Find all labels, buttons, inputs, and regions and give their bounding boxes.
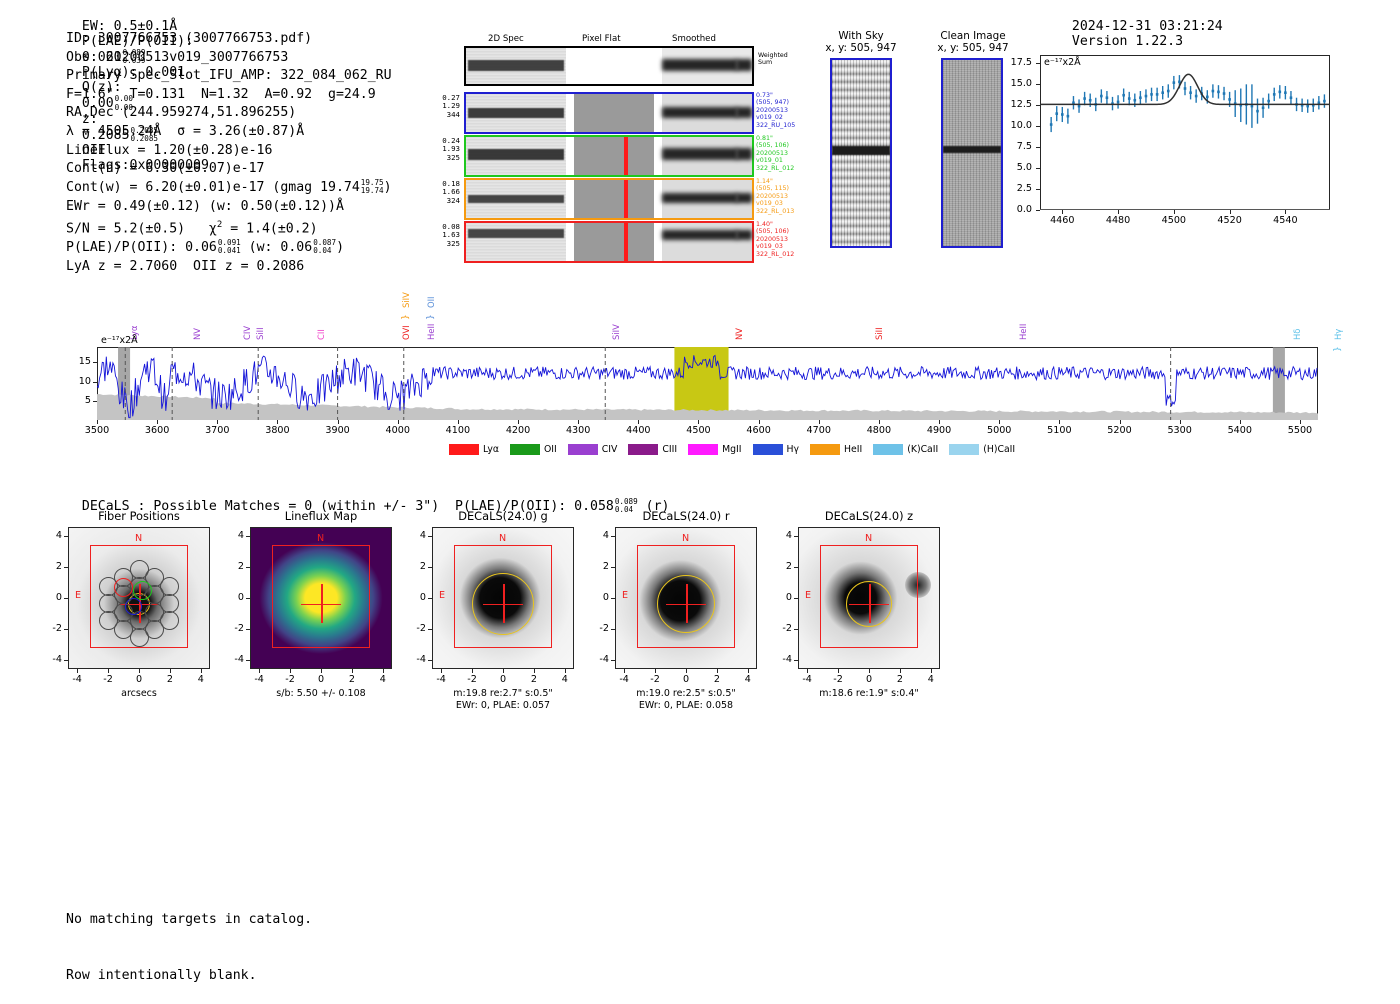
panel-xtick: -2	[824, 674, 852, 685]
legend-swatch	[688, 444, 718, 455]
panel-xtick-mark	[748, 669, 749, 673]
linefit-xtick: 4500	[1156, 215, 1192, 226]
emission-line-label: CII	[316, 329, 326, 340]
linefit-plot-area	[1040, 55, 1330, 210]
panel-xtick: -4	[63, 674, 91, 685]
emission-line-label: OVI	[401, 325, 411, 340]
info-plae-post: )	[336, 240, 344, 255]
fullspec-xtick: 4700	[799, 425, 839, 436]
panel-xtick-mark	[931, 669, 932, 673]
panel-xtick-mark	[807, 669, 808, 673]
info-cont-w-text: Cont(w) = 6.20(±0.01)e-17 (gmag 19.74	[66, 180, 360, 195]
panel-crosshair-v-1	[321, 584, 323, 623]
linefit-ytick: 10.0	[1000, 120, 1032, 131]
legend-item: CIII	[628, 444, 677, 455]
panel-xtick: 0	[672, 674, 700, 685]
row0-val2: 344	[434, 111, 460, 119]
panel-ytick: 0	[38, 592, 62, 603]
panel-caption-2: m:19.8 re:2.7" s:0.5"EWr: 0, PLAE: 0.057	[398, 688, 608, 713]
legend-item: OII	[510, 444, 557, 455]
panel-ytick-mark	[428, 598, 432, 599]
clean-image	[941, 58, 1003, 248]
compass-north-1: N	[317, 533, 324, 544]
panel-ytick: 2	[38, 561, 62, 572]
legend-item: HeII	[810, 444, 862, 455]
panel-xtick: 0	[307, 674, 335, 685]
fullspec-xtick: 3900	[318, 425, 358, 436]
fullspec-xtick: 5300	[1160, 425, 1200, 436]
panel-xtick-mark	[441, 669, 442, 673]
compass-north-3: N	[682, 533, 689, 544]
panel-xtick-mark	[717, 669, 718, 673]
panel-crosshair-v-3	[686, 584, 688, 623]
legend-item: Lyα	[449, 444, 499, 455]
panel-xtick: -4	[793, 674, 821, 685]
header-datetime: 2024-12-31 03:21:24	[1072, 19, 1223, 34]
linefit-ytick: 7.5	[1000, 141, 1032, 152]
panel-caption-line1: m:19.0 re:2.5" s:0.5"	[581, 688, 791, 700]
panel-xtick-mark	[352, 669, 353, 673]
panel-xtick-mark	[534, 669, 535, 673]
panel-crosshair-v-4	[869, 584, 871, 623]
panel-ytick-mark	[794, 660, 798, 661]
panel-ytick-mark	[428, 536, 432, 537]
panel-xtick-mark	[900, 669, 901, 673]
row1-meta3: v019_01	[756, 157, 794, 164]
panel-xtick: 2	[156, 674, 184, 685]
with-sky-subtitle: x, y: 505, 947	[813, 42, 909, 54]
spec2d-row-2-meta: 1.14" (505, 115) 20200513 v019_03 322_RL…	[756, 178, 794, 215]
spec2d-row-2	[464, 178, 754, 220]
fullspec-xtick: 5500	[1280, 425, 1320, 436]
spec2d-row-0-meta: 0.73" (505, 947) 20200513 v019_02 322_RU…	[756, 92, 795, 129]
legend-item: (K)CaII	[873, 444, 938, 455]
panel-xtick-mark	[869, 669, 870, 673]
info-snr-chi2: S/N = 5.2(±0.5) χ2 = 1.4(±0.2)	[66, 216, 392, 239]
panel-image-2[interactable]	[432, 527, 574, 669]
panel-xtick: -2	[458, 674, 486, 685]
fullspec-xtick: 4200	[498, 425, 538, 436]
panel-ytick-mark	[611, 536, 615, 537]
panel-xtick: -2	[276, 674, 304, 685]
linefit-xtick: 4520	[1212, 215, 1248, 226]
object-info-block: ID: 3007766753 (3007766753.pdf) Obs: 202…	[66, 30, 392, 277]
panel-ytick-mark	[64, 598, 68, 599]
with-sky-title-text: With Sky	[813, 30, 909, 42]
fullspec-xtick: 5400	[1220, 425, 1260, 436]
legend-label: (K)CaII	[907, 444, 938, 455]
fullspec-xtick: 4000	[378, 425, 418, 436]
fullspec-xtick: 5100	[1039, 425, 1079, 436]
panel-xtick-mark	[565, 669, 566, 673]
spec2d-row-1	[464, 135, 754, 177]
linefit-ytick: 2.5	[1000, 183, 1032, 194]
panel-ytick: 2	[220, 561, 244, 572]
emission-line-label: HeII	[1018, 324, 1028, 340]
fullspec-xtick: 3800	[257, 425, 297, 436]
info-radec: RA,Dec (244.959274,51.896255)	[66, 104, 392, 123]
panel-image-1[interactable]	[250, 527, 392, 669]
legend-label: OII	[544, 444, 557, 455]
panel-xtick-mark	[321, 669, 322, 673]
panel-ytick: 2	[768, 561, 792, 572]
row0-meta0: 0.73"	[756, 92, 795, 99]
fullspec-xtick: 4600	[739, 425, 779, 436]
row0-meta3: v019_02	[756, 114, 795, 121]
header-version: Version 1.22.3	[1072, 34, 1183, 49]
panel-ytick-mark	[611, 660, 615, 661]
legend-label: HeII	[844, 444, 862, 455]
legend-swatch	[510, 444, 540, 455]
row3-meta4: 322_RL_012	[756, 251, 794, 258]
info-cont-w-post: )	[384, 180, 392, 195]
header-datetime-version: 2024-12-31 03:21:24 Version 1.22.3	[1056, 4, 1231, 49]
info-lambda-sigma: λ = 4505.24Å σ = 3.26(±0.87)Å	[66, 123, 392, 142]
linefit-xtick: 4460	[1044, 215, 1080, 226]
fullspec-xtick: 5000	[979, 425, 1019, 436]
fullspec-ytick: 5	[71, 395, 91, 406]
panel-xtick-mark	[624, 669, 625, 673]
clean-image-title: Clean Image x, y: 505, 947	[921, 30, 1025, 55]
compass-east-4: E	[805, 590, 811, 601]
linefit-ytick: 17.5	[1000, 57, 1032, 68]
panel-title-4: DECaLS(24.0) z	[778, 509, 960, 523]
panel-ytick-mark	[64, 629, 68, 630]
panel-ytick: 4	[220, 530, 244, 541]
panel-xtick: 2	[520, 674, 548, 685]
panel-ytick-mark	[611, 567, 615, 568]
legend-label: Hγ	[787, 444, 800, 455]
row2-meta3: v019_03	[756, 200, 794, 207]
spec2d-weighted-sum-strip	[464, 46, 754, 86]
emission-line-label: NV	[734, 328, 744, 340]
panel-xtick: 4	[734, 674, 762, 685]
panel-ytick: 4	[38, 530, 62, 541]
compass-north-0: N	[135, 533, 142, 544]
row1-meta0: 0.81"	[756, 135, 794, 142]
panel-caption-0: arcsecs	[34, 688, 244, 700]
panel-title-1: Lineflux Map	[230, 509, 412, 523]
panel-ytick: 2	[585, 561, 609, 572]
spec2d-row-3-meta: 1.40" (505, 106) 20200513 v019_03 322_RL…	[756, 221, 794, 258]
panel-ytick-mark	[428, 660, 432, 661]
legend-label: MgII	[722, 444, 741, 455]
emission-line-label: NV	[192, 328, 202, 340]
row3-meta3: v019_03	[756, 243, 794, 250]
linefit-ytick: 5.0	[1000, 162, 1032, 173]
panel-ytick: -4	[402, 654, 426, 665]
row1-val2: 325	[434, 154, 460, 162]
row2-meta4: 322_RL_013	[756, 208, 794, 215]
panel-title-0: Fiber Positions	[48, 509, 230, 523]
compass-north-2: N	[499, 533, 506, 544]
panel-ytick-mark	[428, 567, 432, 568]
panel-xtick: -2	[641, 674, 669, 685]
linefit-ytick: 0.0	[1000, 204, 1032, 215]
legend-label: CIV	[602, 444, 618, 455]
panel-caption-line1: m:18.6 re:1.9" s:0.4"	[764, 688, 974, 700]
panel-ytick-mark	[64, 567, 68, 568]
panel-ytick: 4	[585, 530, 609, 541]
linefit-ytick: 15.0	[1000, 78, 1032, 89]
panel-ytick-mark	[794, 567, 798, 568]
footer-line-2: Row intentionally blank.	[66, 967, 312, 986]
panel-caption-line1: arcsecs	[34, 688, 244, 700]
fullspec-yunit: e⁻¹⁷x2Å	[101, 335, 138, 346]
info-cont-w-lo: 19.74	[361, 186, 384, 195]
legend-swatch	[568, 444, 598, 455]
full-spectrum-legend: LyαOIICIVCIIIMgIIHγHeII(K)CaII(H)CaII	[449, 444, 1015, 455]
panel-caption-4: m:18.6 re:1.9" s:0.4"	[764, 688, 974, 700]
panel-title-2: DECaLS(24.0) g	[412, 509, 594, 523]
panel-xtick-mark	[170, 669, 171, 673]
panel-xtick-mark	[77, 669, 78, 673]
fullspec-xtick: 5200	[1100, 425, 1140, 436]
info-snr-post: = 1.4(±0.2)	[222, 222, 317, 237]
panel-ytick: -2	[38, 623, 62, 634]
panel-xtick: 4	[917, 674, 945, 685]
panel-ytick-mark	[428, 629, 432, 630]
emission-line-brace: }	[426, 314, 436, 320]
fullspec-xtick: 4900	[919, 425, 959, 436]
info-plae-lo: 0.041	[218, 246, 241, 255]
panel-caption-line2: EWr: 0, PLAE: 0.058	[581, 700, 791, 712]
info-obs: Obs: 20200513v019_3007766753	[66, 49, 392, 68]
row1-meta4: 322_RL_012	[756, 165, 794, 172]
info-id: ID: 3007766753 (3007766753.pdf)	[66, 30, 392, 49]
info-cont-n: Cont(n) = 6.30(±0.07)e-17	[66, 160, 392, 179]
row2-val2: 324	[434, 197, 460, 205]
panel-ytick: 0	[220, 592, 244, 603]
fiber-highlight-blue	[125, 598, 142, 615]
legend-swatch	[810, 444, 840, 455]
panel-ytick-mark	[246, 536, 250, 537]
panel-xtick: 2	[703, 674, 731, 685]
emission-line-label: OII	[426, 296, 436, 308]
panel-image-0[interactable]	[68, 527, 210, 669]
info-lineflux: LineFlux = 1.20(±0.28)e-16	[66, 142, 392, 161]
spec2d-weighted-sum-label: Weighted Sum	[758, 52, 818, 67]
panel-ytick-mark	[794, 598, 798, 599]
legend-swatch	[449, 444, 479, 455]
spec2d-row-1-left-labels: 0.24 1.93 325	[434, 137, 460, 162]
linefit-xtick: 4480	[1100, 215, 1136, 226]
panel-title-3: DECaLS(24.0) r	[595, 509, 777, 523]
legend-item: (H)CaII	[949, 444, 1015, 455]
spec2d-row-0-left-labels: 0.27 1.29 344	[434, 94, 460, 119]
panel-xtick: 4	[369, 674, 397, 685]
panel-ytick: 4	[768, 530, 792, 541]
info-primary-spec: Primary Spec_Slot_IFU_AMP: 322_084_062_R…	[66, 67, 392, 86]
fullspec-xtick: 4800	[859, 425, 899, 436]
panel-ytick: -4	[585, 654, 609, 665]
panel-ytick: 2	[402, 561, 426, 572]
clean-image-title-text: Clean Image	[921, 30, 1025, 42]
with-sky-title: With Sky x, y: 505, 947	[813, 30, 909, 55]
info-snr-pre: S/N = 5.2(±0.5) χ	[66, 222, 217, 237]
spec2d-row-1-meta: 0.81" (505, 106) 20200513 v019_01 322_RL…	[756, 135, 794, 172]
panel-ytick: 0	[402, 592, 426, 603]
legend-item: Hγ	[753, 444, 800, 455]
info-plae-pre: P(LAE)/P(OII): 0.06	[66, 240, 217, 255]
legend-swatch	[873, 444, 903, 455]
fullspec-xtick: 4100	[438, 425, 478, 436]
emission-line-label: CIV	[242, 326, 252, 340]
panel-xtick: 4	[187, 674, 215, 685]
row2-meta2: 20200513	[756, 193, 794, 200]
panel-ytick-mark	[246, 567, 250, 568]
linefit-xtick: 4540	[1267, 215, 1303, 226]
emission-line-label: Hδ	[1292, 329, 1302, 340]
panel-ytick-mark	[246, 629, 250, 630]
emission-line-label: Hγ	[1333, 329, 1343, 340]
compass-east-0: E	[75, 590, 81, 601]
emission-line-brace: }	[1333, 346, 1343, 352]
panel-image-4[interactable]	[798, 527, 940, 669]
spec2d-row-3-left-labels: 0.08 1.63 325	[434, 223, 460, 248]
info-plae-w-lo: 0.04	[313, 246, 331, 255]
spec2d-col-title-2dspec: 2D Spec	[488, 34, 524, 44]
info-params: F=1.6" T=0.131 N=1.32 A=0.92 g=24.9	[66, 86, 392, 105]
with-sky-image	[830, 58, 892, 248]
panel-ytick: -2	[585, 623, 609, 634]
panel-xtick: -4	[427, 674, 455, 685]
emission-line-label: HeII	[426, 324, 436, 340]
info-plae: P(LAE)/P(OII): 0.060.0910.041 (w: 0.060.…	[66, 239, 392, 258]
emission-line-label: SiIV	[401, 292, 411, 308]
panel-caption-line2: EWr: 0, PLAE: 0.057	[398, 700, 608, 712]
legend-label: (H)CaII	[983, 444, 1015, 455]
spec2d-row-0	[464, 92, 754, 134]
row3-meta2: 20200513	[756, 236, 794, 243]
panel-ytick: -2	[402, 623, 426, 634]
panel-caption-1: s/b: 5.50 +/- 0.108	[216, 688, 426, 700]
panel-xtick-mark	[201, 669, 202, 673]
panel-xtick: -2	[94, 674, 122, 685]
full-spectrum-chart: Lyα}NV}CIV}SiII}CII}OVI}HeII}SiIV}OII}Si…	[97, 280, 1322, 465]
footer-line-1: No matching targets in catalog.	[66, 911, 312, 930]
panel-ytick-mark	[611, 629, 615, 630]
spec2d-exposure-rows	[464, 92, 754, 263]
row3-meta0: 1.40"	[756, 221, 794, 228]
fullspec-ytick: 10	[71, 376, 91, 387]
emission-line-brace: }	[401, 314, 411, 320]
panel-xtick: -4	[610, 674, 638, 685]
row0-meta1: (505, 947)	[756, 99, 795, 106]
2d-spec-panel: 2D Spec Pixel Flat Smoothed Weighted Sum	[464, 34, 756, 249]
legend-swatch	[628, 444, 658, 455]
legend-label: Lyα	[483, 444, 499, 455]
panel-xtick-mark	[139, 669, 140, 673]
panel-xtick: 0	[855, 674, 883, 685]
fullspec-plot-area	[97, 347, 1318, 420]
row2-meta1: (505, 115)	[756, 185, 794, 192]
spec2d-row-2-left-labels: 0.18 1.66 324	[434, 180, 460, 205]
linefit-ytick: 12.5	[1000, 99, 1032, 110]
panel-xtick: 0	[125, 674, 153, 685]
row1-meta2: 20200513	[756, 150, 794, 157]
panel-ytick: -4	[38, 654, 62, 665]
panel-ytick: -2	[220, 623, 244, 634]
row3-val2: 325	[434, 240, 460, 248]
panel-image-3[interactable]	[615, 527, 757, 669]
info-ewr: EWr = 0.49(±0.12) (w: 0.50(±0.12))Å	[66, 198, 392, 217]
panel-ytick: -4	[220, 654, 244, 665]
legend-item: MgII	[688, 444, 741, 455]
panel-xtick-mark	[259, 669, 260, 673]
panel-ytick-mark	[246, 598, 250, 599]
info-redshifts: LyA z = 2.7060 OII z = 0.2086	[66, 258, 392, 277]
fullspec-xtick: 4500	[678, 425, 718, 436]
fullspec-xtick: 3700	[197, 425, 237, 436]
legend-item: CIV	[568, 444, 618, 455]
panel-xtick-mark	[108, 669, 109, 673]
compass-east-3: E	[622, 590, 628, 601]
spec2d-col-title-smoothed: Smoothed	[672, 34, 716, 44]
emission-line-label: SiIV	[611, 324, 621, 340]
panel-ytick: 0	[768, 592, 792, 603]
panel-ytick-mark	[64, 660, 68, 661]
panel-xtick-mark	[290, 669, 291, 673]
spec2d-row-3	[464, 221, 754, 263]
panel-xtick-mark	[655, 669, 656, 673]
panel-caption-line1: m:19.8 re:2.7" s:0.5"	[398, 688, 608, 700]
panel-xtick: 2	[886, 674, 914, 685]
spec2d-col-title-pixelflat: Pixel Flat	[582, 34, 621, 44]
legend-label: CIII	[662, 444, 677, 455]
clean-image-subtitle: x, y: 505, 947	[921, 42, 1025, 54]
panel-xtick: 2	[338, 674, 366, 685]
panel-ytick: 4	[402, 530, 426, 541]
fullspec-ytick: 15	[71, 356, 91, 367]
panel-xtick-mark	[472, 669, 473, 673]
panel-xtick: 4	[551, 674, 579, 685]
info-plae-mid: (w: 0.06	[249, 240, 313, 255]
panel-ytick-mark	[611, 598, 615, 599]
legend-swatch	[949, 444, 979, 455]
fullspec-xtick: 4400	[618, 425, 658, 436]
footer-note: No matching targets in catalog. Row inte…	[66, 874, 312, 1004]
panel-ytick-mark	[794, 536, 798, 537]
fullspec-xtick: 4300	[558, 425, 598, 436]
fiber-circle	[114, 620, 133, 639]
fullspec-xtick: 3600	[137, 425, 177, 436]
compass-east-2: E	[439, 590, 445, 601]
panel-ytick: 0	[585, 592, 609, 603]
panel-caption-line1: s/b: 5.50 +/- 0.108	[216, 688, 426, 700]
panel-ytick-mark	[64, 536, 68, 537]
emission-line-label: SiII	[255, 327, 265, 340]
panel-xtick-mark	[383, 669, 384, 673]
panel-ytick: -2	[768, 623, 792, 634]
fullspec-xtick: 3500	[77, 425, 117, 436]
emission-line-label: SiII	[874, 327, 884, 340]
panel-ytick-mark	[794, 629, 798, 630]
emission-line-fit-chart: e⁻¹⁷x2Å 0.02.55.07.510.012.515.017.5 446…	[1040, 55, 1340, 230]
panel-xtick: 0	[489, 674, 517, 685]
legend-swatch	[753, 444, 783, 455]
row1-meta1: (505, 106)	[756, 142, 794, 149]
row2-meta0: 1.14"	[756, 178, 794, 185]
panel-ytick: -4	[768, 654, 792, 665]
panel-xtick: -4	[245, 674, 273, 685]
panel-caption-3: m:19.0 re:2.5" s:0.5"EWr: 0, PLAE: 0.058	[581, 688, 791, 713]
panel-xtick-mark	[686, 669, 687, 673]
compass-north-4: N	[865, 533, 872, 544]
info-cont-w: Cont(w) = 6.20(±0.01)e-17 (gmag 19.7419.…	[66, 179, 392, 198]
panel-ytick-mark	[246, 660, 250, 661]
row0-meta2: 20200513	[756, 107, 795, 114]
